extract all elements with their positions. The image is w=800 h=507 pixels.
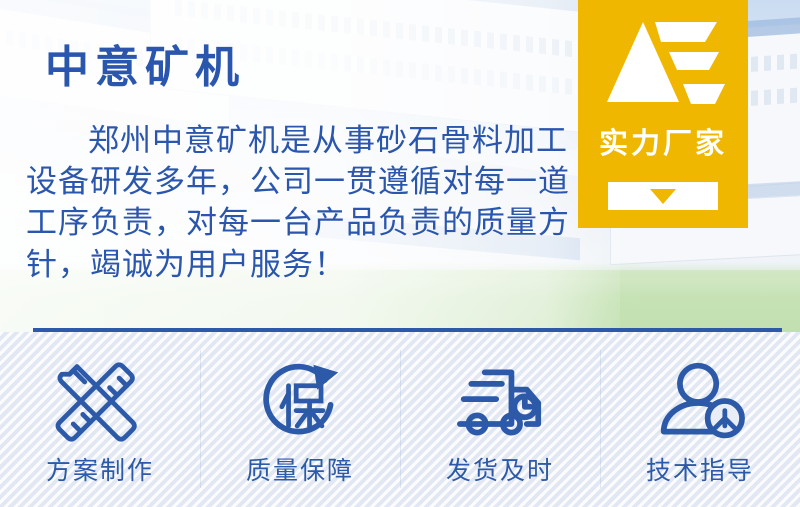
triangle-e-logo-icon xyxy=(599,16,727,108)
badge-label: 实力厂家 xyxy=(578,120,748,162)
promo-banner: 中意矿机 郑州中意矿机是从事砂石骨料加工设备研发多年，公司一贯遵循对每一道工序负… xyxy=(0,0,800,507)
page-title: 中意矿机 xyxy=(45,46,245,90)
feature-label: 技术指导 xyxy=(646,451,754,487)
hero-background: 中意矿机 郑州中意矿机是从事砂石骨料加工设备研发多年，公司一贯遵循对每一道工序负… xyxy=(0,0,800,332)
feature-label: 发货及时 xyxy=(446,451,554,487)
feature-label: 方案制作 xyxy=(46,451,154,487)
strength-manufacturer-badge[interactable]: 实力厂家 xyxy=(578,0,748,228)
feature-item-quality-assurance[interactable]: 质量保障 xyxy=(200,332,400,507)
feature-label: 质量保障 xyxy=(246,451,354,487)
pencil-ruler-icon xyxy=(52,359,148,445)
feature-item-plan-design[interactable]: 方案制作 xyxy=(0,332,200,507)
badge-arrow-button[interactable] xyxy=(608,182,718,210)
feature-item-technical-guidance[interactable]: 技术指导 xyxy=(600,332,800,507)
chevron-down-icon xyxy=(650,189,676,204)
feature-item-fast-delivery[interactable]: 发货及时 xyxy=(400,332,600,507)
delivery-truck-clock-icon xyxy=(452,359,548,445)
technician-support-icon xyxy=(652,359,748,445)
company-description: 郑州中意矿机是从事砂石骨料加工设备研发多年，公司一贯遵循对每一道工序负责，对每一… xyxy=(26,120,586,285)
feature-strip: 方案制作 质量保障 xyxy=(0,332,800,507)
warranty-refresh-icon xyxy=(252,359,348,445)
